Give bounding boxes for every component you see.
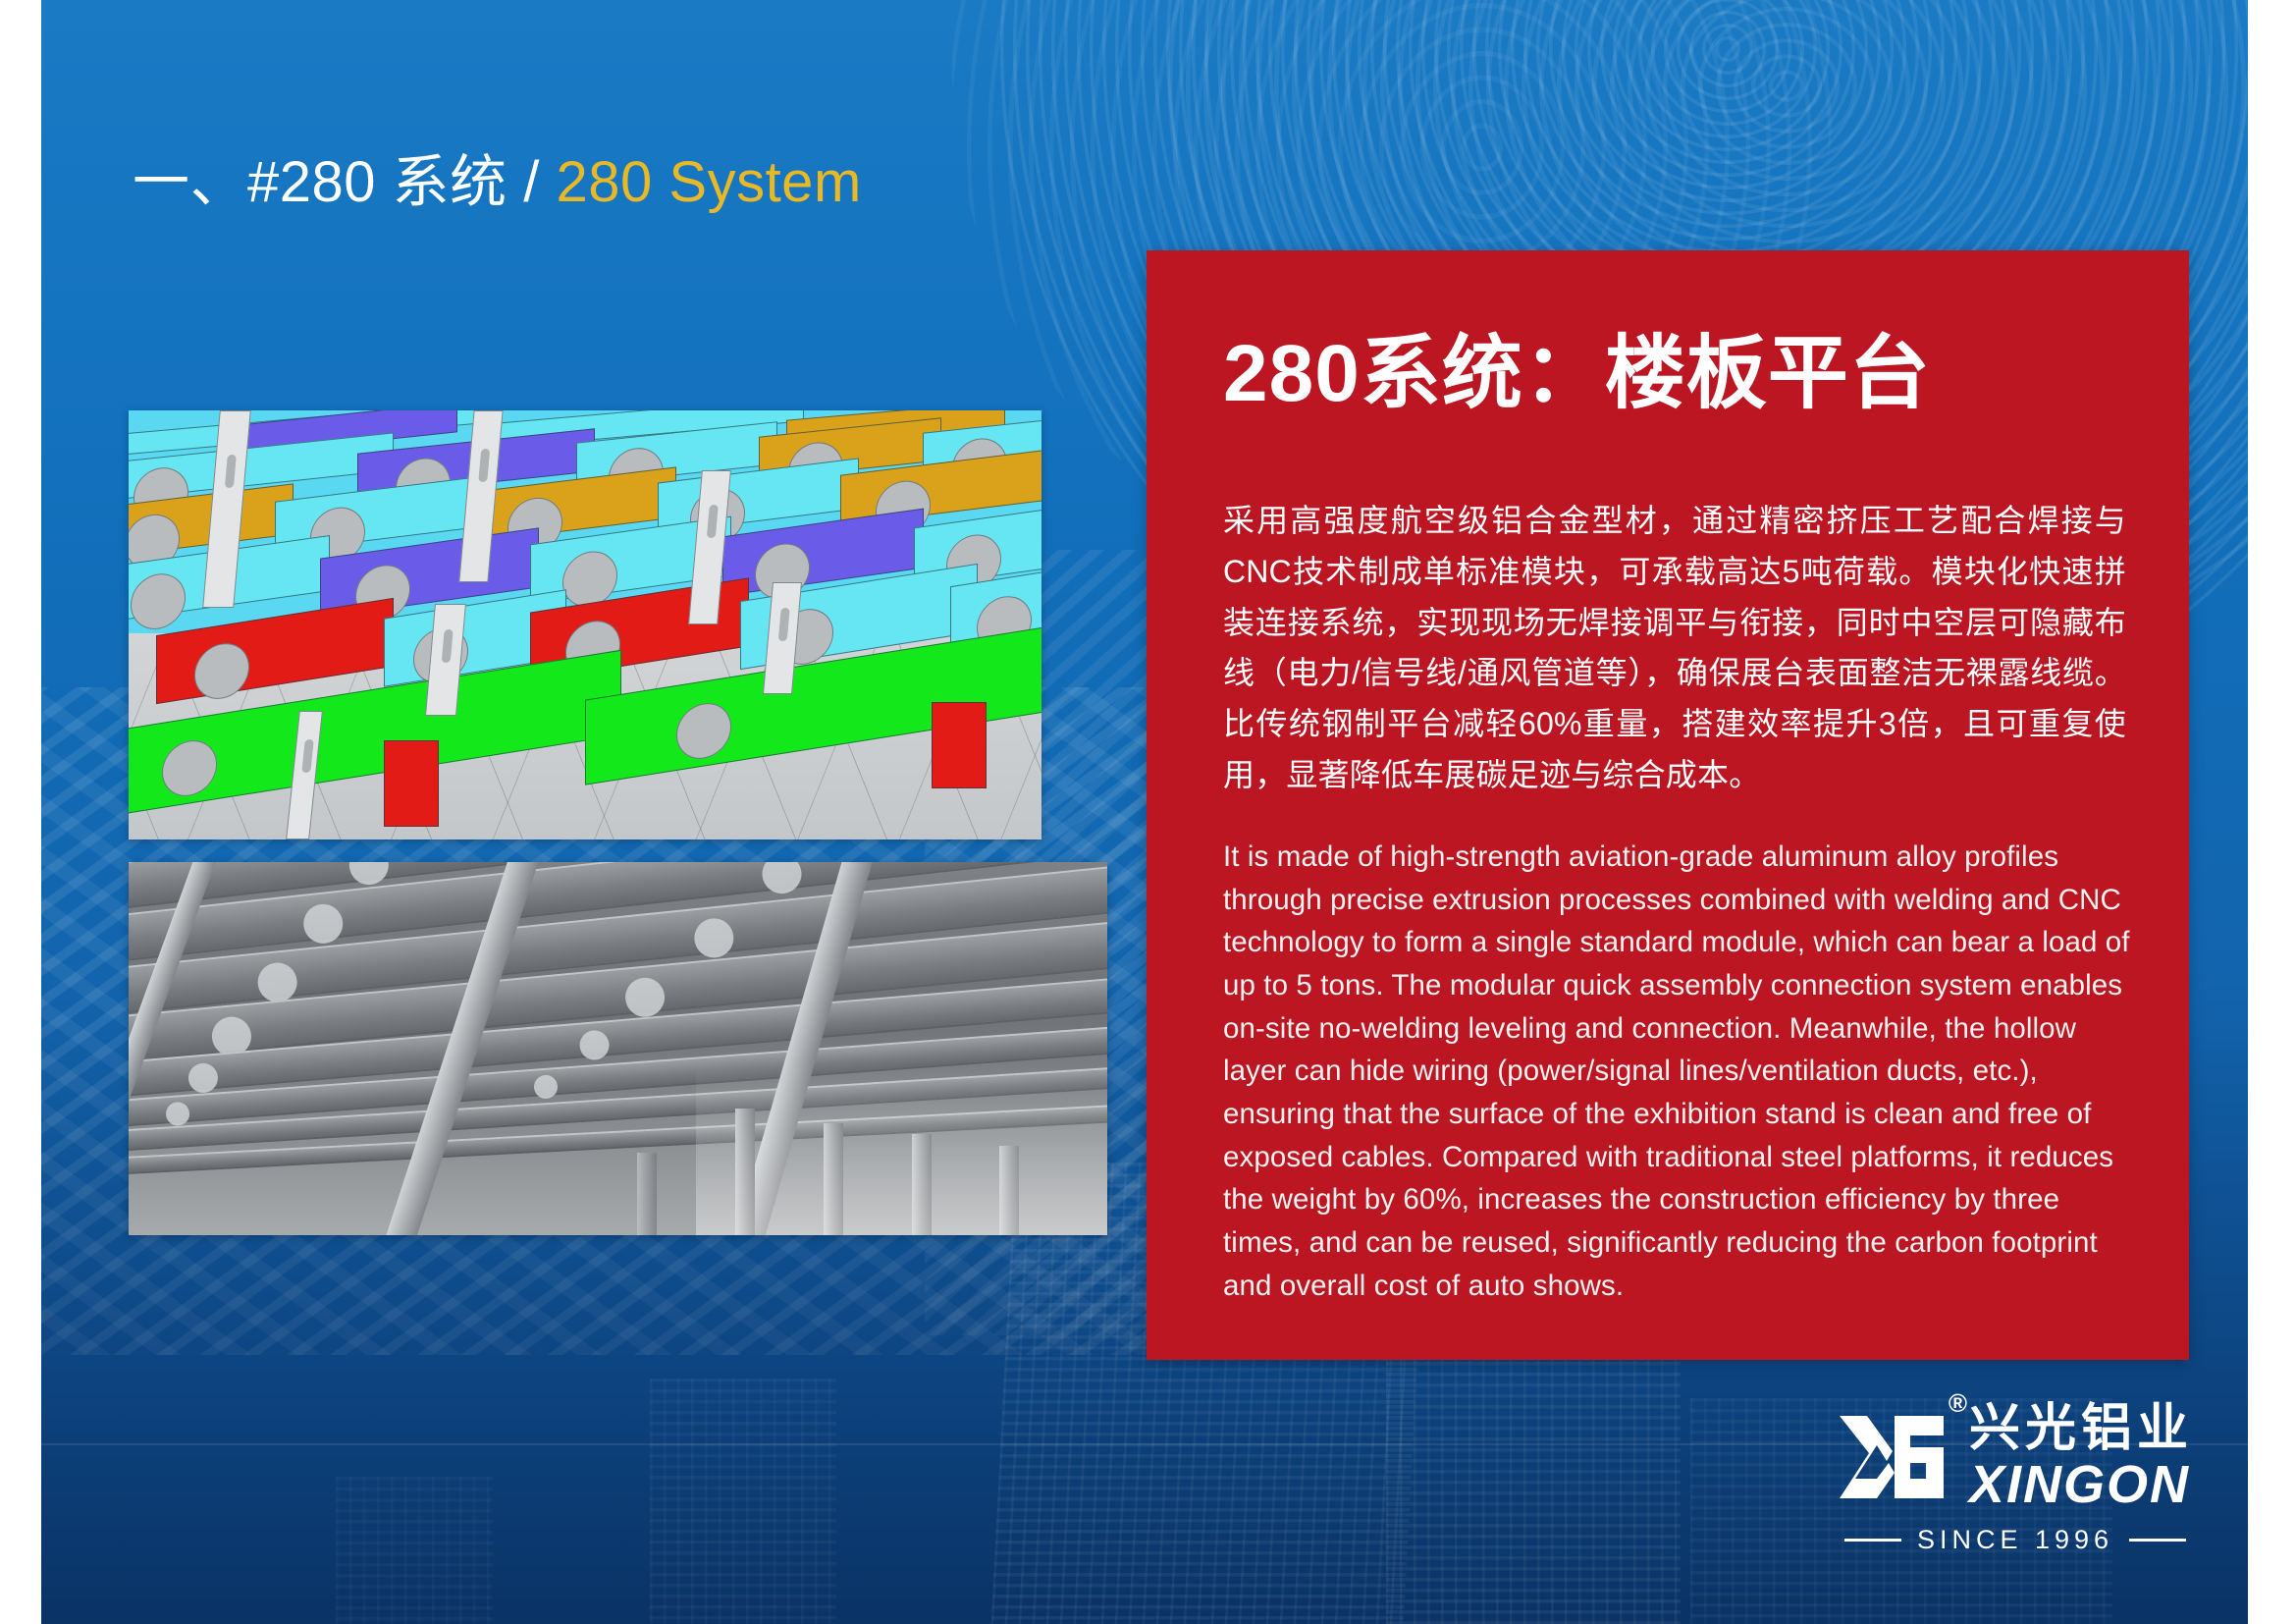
panel-heading: 280系统：楼板平台 [1223, 307, 1931, 424]
panel-paragraph-english: It is made of high-strength aviation-gra… [1223, 836, 2136, 1307]
page-title: 一、#280 系统 / 280 System [133, 135, 862, 218]
panel-paragraph-chinese: 采用高强度航空级铝合金型材，通过精密挤压工艺配合焊接与CNC技术制成单标准模块，… [1223, 496, 2126, 801]
company-logo: ® 兴光铝业 XINGON SINCE 1996 [1838, 1402, 2193, 1555]
since-rule-right [2129, 1539, 2186, 1542]
background-building [336, 1477, 493, 1624]
platform-photo-image [129, 862, 1107, 1235]
since-rule-left [1844, 1539, 1901, 1542]
registered-trademark-icon: ® [1949, 1388, 1967, 1419]
background-building [650, 1379, 836, 1624]
background-building [1386, 1329, 1681, 1624]
company-name-chinese: 兴光铝业 [1969, 1402, 2193, 1456]
since-text: SINCE 1996 [1917, 1525, 2113, 1555]
xg-monogram-icon: ® [1838, 1408, 1948, 1506]
page-title-chinese: 一、#280 系统 / [133, 150, 557, 214]
since-badge: SINCE 1996 [1844, 1525, 2186, 1555]
page-title-english: 280 System [557, 150, 862, 214]
presentation-slide: 一、#280 系统 / 280 System [0, 0, 2296, 1624]
info-panel: 280系统：楼板平台 采用高强度航空级铝合金型材，通过精密挤压工艺配合焊接与CN… [1147, 250, 2189, 1360]
cad-render-image [129, 410, 1041, 839]
right-margin [2248, 0, 2296, 1624]
company-name-english: XINGON [1969, 1457, 2193, 1513]
